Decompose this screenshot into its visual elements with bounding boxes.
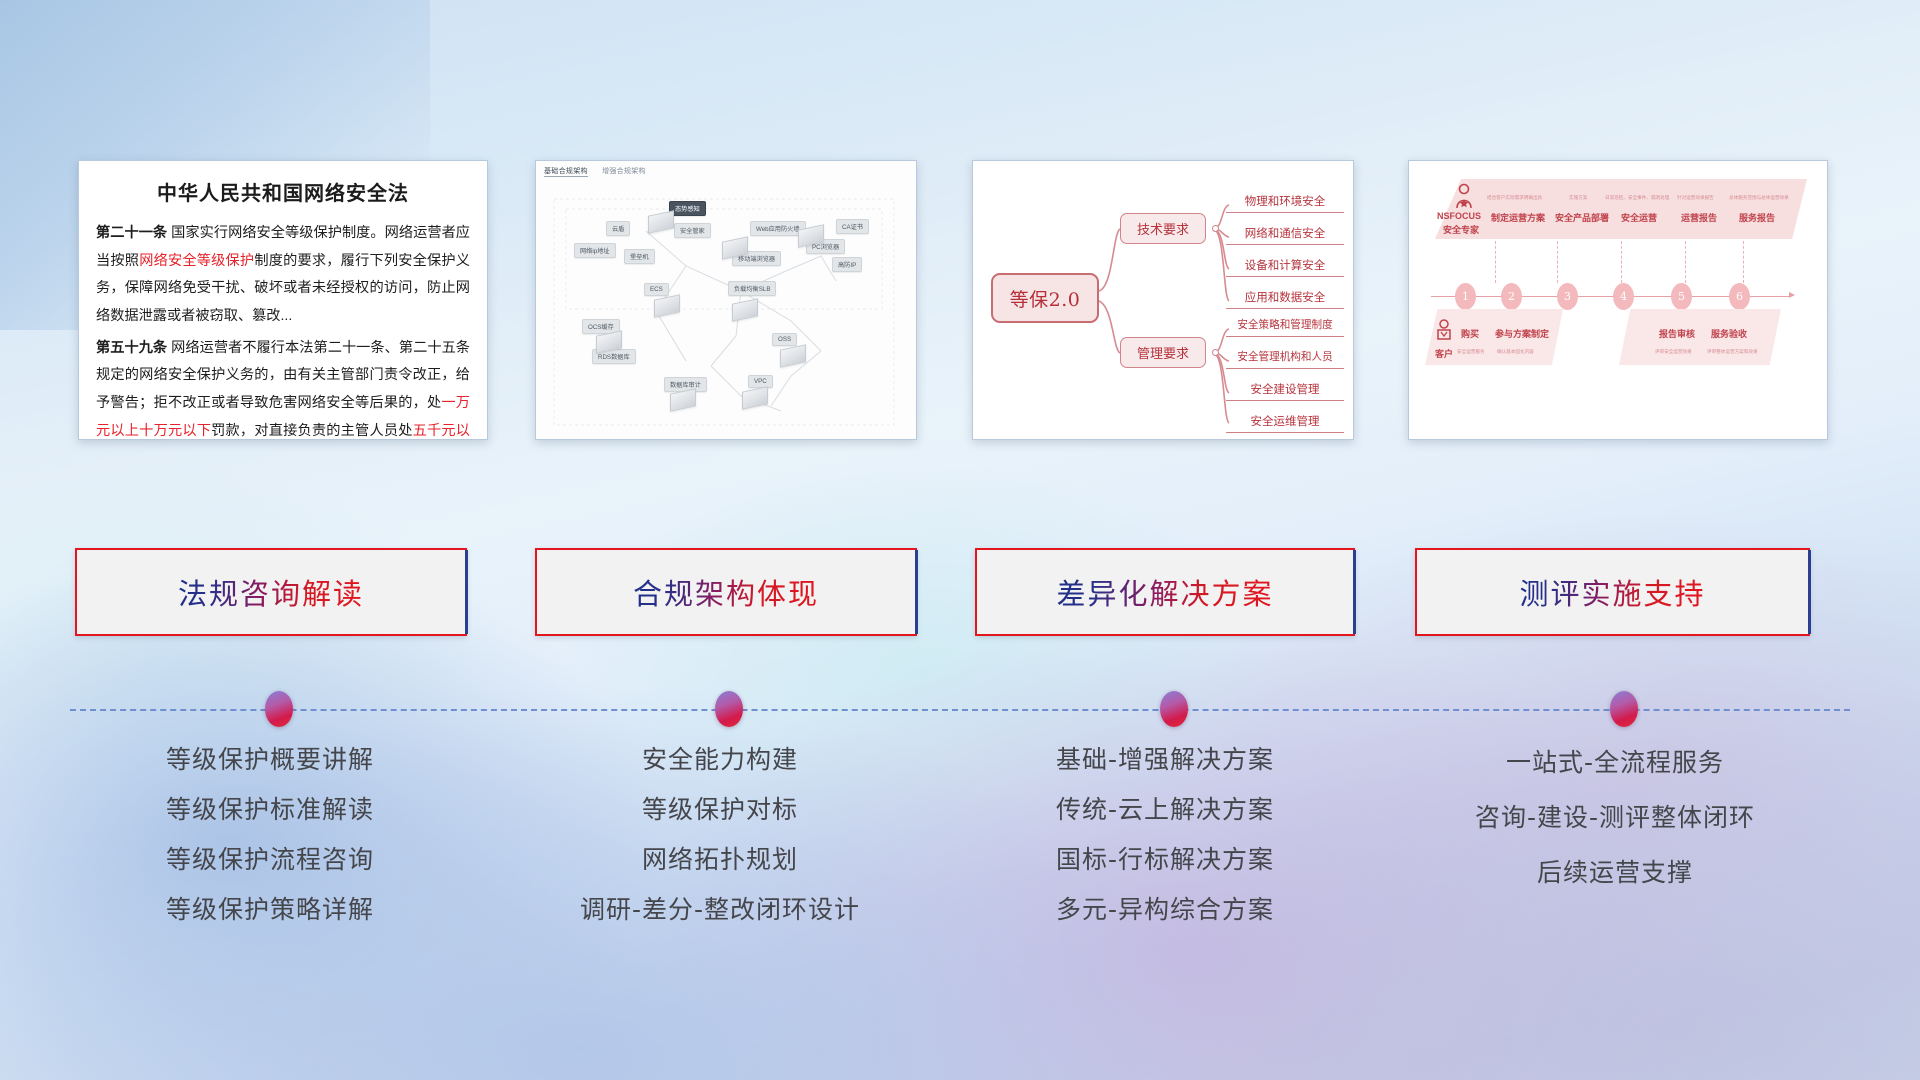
title-box-assessment-support[interactable]: 测评实施支持 [1415, 548, 1810, 636]
architecture-node-yundun: 云盾 [606, 221, 630, 236]
timeline-marker-2[interactable] [715, 691, 743, 727]
law-article-59: 第五十九条 网络运营者不履行本法第二十一条、第二十五条规定的网络安全保护义务的，… [96, 335, 470, 440]
detail-column-2: 安全能力构建 等级保护对标 网络拓扑规划 调研-差分-整改闭环设计 [500, 735, 940, 935]
law-article-59-body-2: 罚款，对直接负责的主管人员处 [211, 423, 412, 439]
architecture-diagram: 基础合规架构 增强合规架构 态势感知 云盾 [536, 161, 916, 439]
bottom-left-step-1-sub: 安全运营服务 [1457, 349, 1485, 355]
architecture-icon-server-h [742, 386, 768, 410]
timeline-marker-3[interactable] [1160, 691, 1188, 727]
architecture-node-risk: 态势感知 [669, 201, 706, 216]
bottom-right-step-1-label: 报告审核 [1659, 327, 1695, 340]
law-article-21-highlight: 网络安全等级保护 [139, 253, 254, 269]
title-box-regulation-consulting[interactable]: 法规咨询解读 [75, 548, 467, 636]
timeline-step-5: 5 [1671, 283, 1692, 310]
architecture-node-security-butler: 安全管家 [674, 223, 711, 238]
bottom-left-step-2-sub: 确认基本固化内容 [1497, 349, 1534, 355]
connector-tick-2 [1495, 241, 1496, 283]
customer-role-label: 客户 [1435, 347, 1453, 360]
mindmap: 等保2.0 技术要求 物理和环境安全 网络和通信安全 设备和计算安全 应用和数据… [973, 161, 1353, 439]
architecture-connector-lines [536, 161, 917, 440]
architecture-icon-server-a [648, 210, 674, 234]
card-cybersecurity-law: 中华人民共和国网络安全法 第二十一条 国家实行网络安全等级保护制度。网络运营者应… [78, 160, 488, 440]
dashed-timeline [70, 690, 1850, 730]
nsfocus-top-band [1435, 179, 1807, 239]
architecture-node-vpc: VPC [748, 375, 773, 388]
top-step-4-label: 运营报告 [1681, 211, 1717, 224]
timeline-step-6: 6 [1729, 283, 1750, 310]
bottom-right-step-1-sub: 评审安全运营效果 [1655, 349, 1692, 355]
mindmap-leaf-construction: 安全建设管理 [1226, 377, 1344, 401]
nsfocus-flow: NSFOCUS 安全专家 结合客户实际需求明确出具 制定运营方案 实施方案 安全… [1409, 161, 1827, 439]
timeline-step-4: 4 [1613, 283, 1634, 310]
top-step-2-label: 安全产品部署 [1555, 211, 1609, 224]
timeline-step-1: 1 [1455, 283, 1476, 310]
mindmap-node-dot-technical [1212, 225, 1219, 232]
list-item: 等级保护策略详解 [60, 885, 480, 935]
law-article-59-label: 第五十九条 [96, 340, 167, 356]
title-label-1: 法规咨询解读 [178, 571, 364, 613]
mindmap-leaf-device-compute: 设备和计算安全 [1226, 253, 1344, 277]
mindmap-branch-technical: 技术要求 [1120, 213, 1206, 244]
architecture-node-bastion: 堡垒机 [624, 249, 655, 264]
card-mindmap-dengbao: 等保2.0 技术要求 物理和环境安全 网络和通信安全 设备和计算安全 应用和数据… [972, 160, 1354, 440]
top-step-5-sub: 总体服务范围与总体运营效果 [1729, 195, 1789, 201]
law-article-21-label: 第二十一条 [96, 225, 167, 241]
list-item: 国标-行标解决方案 [955, 835, 1375, 885]
list-item: 等级保护概要讲解 [60, 735, 480, 785]
architecture-node-anti-ddos: 高防IP [832, 257, 862, 272]
top-step-5-label: 服务报告 [1739, 211, 1775, 224]
top-step-2-sub: 实施方案 [1569, 195, 1587, 201]
top-step-1-label: 制定运营方案 [1491, 211, 1545, 224]
bottom-left-step-2-label: 参与方案制定 [1495, 327, 1549, 340]
bottom-right-step-2-label: 服务验收 [1711, 327, 1747, 340]
customer-person-icon [1435, 319, 1453, 345]
connector-tick-4 [1621, 241, 1622, 283]
mindmap-node-dot-management [1212, 349, 1219, 356]
timeline-marker-1[interactable] [265, 691, 293, 727]
architecture-node-ip-address: 网络ip地址 [574, 243, 616, 258]
mindmap-root: 等保2.0 [991, 273, 1099, 323]
list-item: 后续运营支撑 [1395, 845, 1835, 900]
detail-column-3: 基础-增强解决方案 传统-云上解决方案 国标-行标解决方案 多元-异构综合方案 [955, 735, 1375, 935]
list-item: 调研-差分-整改闭环设计 [500, 885, 940, 935]
expert-person-icon [1453, 183, 1475, 209]
top-step-3-sub: 日常巡检、安全事件、漏洞处理 [1605, 195, 1669, 201]
list-item: 网络拓扑规划 [500, 835, 940, 885]
architecture-node-slb: 负载均衡SLB [728, 281, 776, 296]
architecture-icon-server-d [654, 294, 680, 318]
timeline-step-3: 3 [1557, 283, 1578, 310]
mindmap-branch-management: 管理要求 [1120, 337, 1206, 368]
mindmap-leaf-app-data: 应用和数据安全 [1226, 285, 1344, 309]
list-item: 一站式-全流程服务 [1395, 735, 1835, 790]
title-box-compliance-architecture[interactable]: 合规架构体现 [535, 548, 917, 636]
architecture-node-ca: CA证书 [836, 219, 869, 234]
mindmap-leaf-network-comm: 网络和通信安全 [1226, 221, 1344, 245]
timeline-step-2: 2 [1501, 283, 1522, 310]
architecture-tab-enhanced[interactable]: 增强合规架构 [602, 168, 646, 175]
reference-images-row: 中华人民共和国网络安全法 第二十一条 国家实行网络安全等级保护制度。网络运营者应… [0, 150, 1920, 440]
detail-columns-row: 等级保护概要讲解 等级保护标准解读 等级保护流程咨询 等级保护策略详解 安全能力… [0, 735, 1920, 985]
list-item: 咨询-建设-测评整体闭环 [1395, 790, 1835, 845]
card-cloud-architecture: 基础合规架构 增强合规架构 态势感知 云盾 [535, 160, 917, 440]
expert-brand-label: NSFOCUS [1437, 211, 1481, 221]
law-text-block: 中华人民共和国网络安全法 第二十一条 国家实行网络安全等级保护制度。网络运营者应… [79, 161, 487, 440]
card-nsfocus-service-flow: NSFOCUS 安全专家 结合客户实际需求明确出具 制定运营方案 实施方案 安全… [1408, 160, 1828, 440]
connector-tick-5 [1685, 241, 1686, 283]
timeline-marker-4[interactable] [1610, 691, 1638, 727]
connector-tick-3 [1557, 241, 1558, 283]
list-item: 基础-增强解决方案 [955, 735, 1375, 785]
section-titles-row: 法规咨询解读 合规架构体现 差异化解决方案 测评实施支持 [0, 548, 1920, 638]
list-item: 多元-异构综合方案 [955, 885, 1375, 935]
detail-column-4: 一站式-全流程服务 咨询-建设-测评整体闭环 后续运营支撑 [1395, 735, 1835, 900]
list-item: 等级保护流程咨询 [60, 835, 480, 885]
architecture-node-ecs: ECS [644, 283, 669, 296]
title-box-differentiated-solution[interactable]: 差异化解决方案 [975, 548, 1355, 636]
architecture-node-oss: OSS [772, 333, 797, 346]
list-item: 等级保护对标 [500, 785, 940, 835]
nsfocus-bottom-right-band [1619, 309, 1781, 365]
title-label-3: 差异化解决方案 [1056, 571, 1273, 613]
architecture-tabs: 基础合规架构 增强合规架构 [544, 166, 658, 176]
law-article-21: 第二十一条 国家实行网络安全等级保护制度。网络运营者应当按照网络安全等级保护制度… [96, 220, 470, 331]
mindmap-leaf-physical-env: 物理和环境安全 [1226, 189, 1344, 213]
mindmap-leaf-org-personnel: 安全管理机构和人员 [1226, 345, 1344, 369]
top-step-4-sub: 针对运营效果报告 [1677, 195, 1714, 201]
expert-role-label: 安全专家 [1443, 223, 1479, 236]
list-item: 传统-云上解决方案 [955, 785, 1375, 835]
connector-tick-6 [1743, 241, 1744, 283]
mindmap-leaf-policy-system: 安全策略和管理制度 [1226, 313, 1344, 337]
bottom-left-step-1-label: 购买 [1461, 327, 1479, 340]
law-title: 中华人民共和国网络安全法 [96, 177, 470, 206]
timeline-dashed-line [70, 709, 1850, 711]
mindmap-leaf-operations: 安全运维管理 [1226, 409, 1344, 433]
architecture-icon-server-e [732, 298, 758, 322]
top-step-3-label: 安全运营 [1621, 211, 1657, 224]
list-item: 等级保护标准解读 [60, 785, 480, 835]
list-item: 安全能力构建 [500, 735, 940, 785]
title-label-4: 测评实施支持 [1519, 571, 1705, 613]
title-label-2: 合规架构体现 [633, 571, 819, 613]
architecture-tab-basic[interactable]: 基础合规架构 [544, 168, 588, 177]
timeline-arrow-icon [1789, 292, 1795, 298]
architecture-icon-server-i [670, 388, 696, 412]
top-step-1-sub: 结合客户实际需求明确出具 [1487, 195, 1542, 201]
detail-column-1: 等级保护概要讲解 等级保护标准解读 等级保护流程咨询 等级保护策略详解 [60, 735, 480, 935]
bottom-right-step-2-sub: 评审整体运营方案和效果 [1707, 349, 1758, 355]
architecture-icon-server-g [780, 344, 806, 368]
